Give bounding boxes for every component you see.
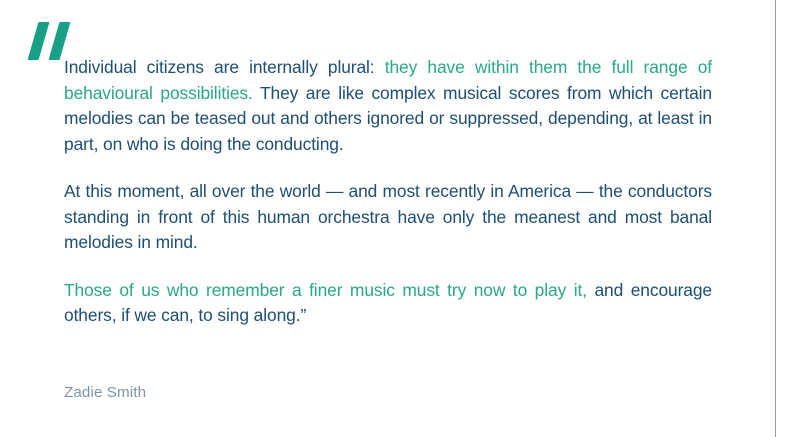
quote-paragraph: Those of us who remember a finer music m… — [64, 278, 712, 329]
quote-paragraph: At this moment, all over the world — and… — [64, 179, 712, 256]
quote-paragraph: Individual citizens are internally plura… — [64, 55, 712, 157]
quote-text-block: Individual citizens are internally plura… — [64, 55, 712, 329]
quote-card: Individual citizens are internally plura… — [0, 0, 800, 437]
quotation-mark-stroke-left — [28, 22, 50, 60]
highlighted-text-run: Those of us who remember a finer music m… — [64, 280, 587, 300]
quote-attribution: Zadie Smith — [64, 383, 146, 403]
body-text-run: At this moment, all over the world — and… — [64, 181, 712, 252]
body-text-run: Individual citizens are internally plura… — [64, 57, 385, 77]
right-edge-divider — [775, 0, 776, 437]
